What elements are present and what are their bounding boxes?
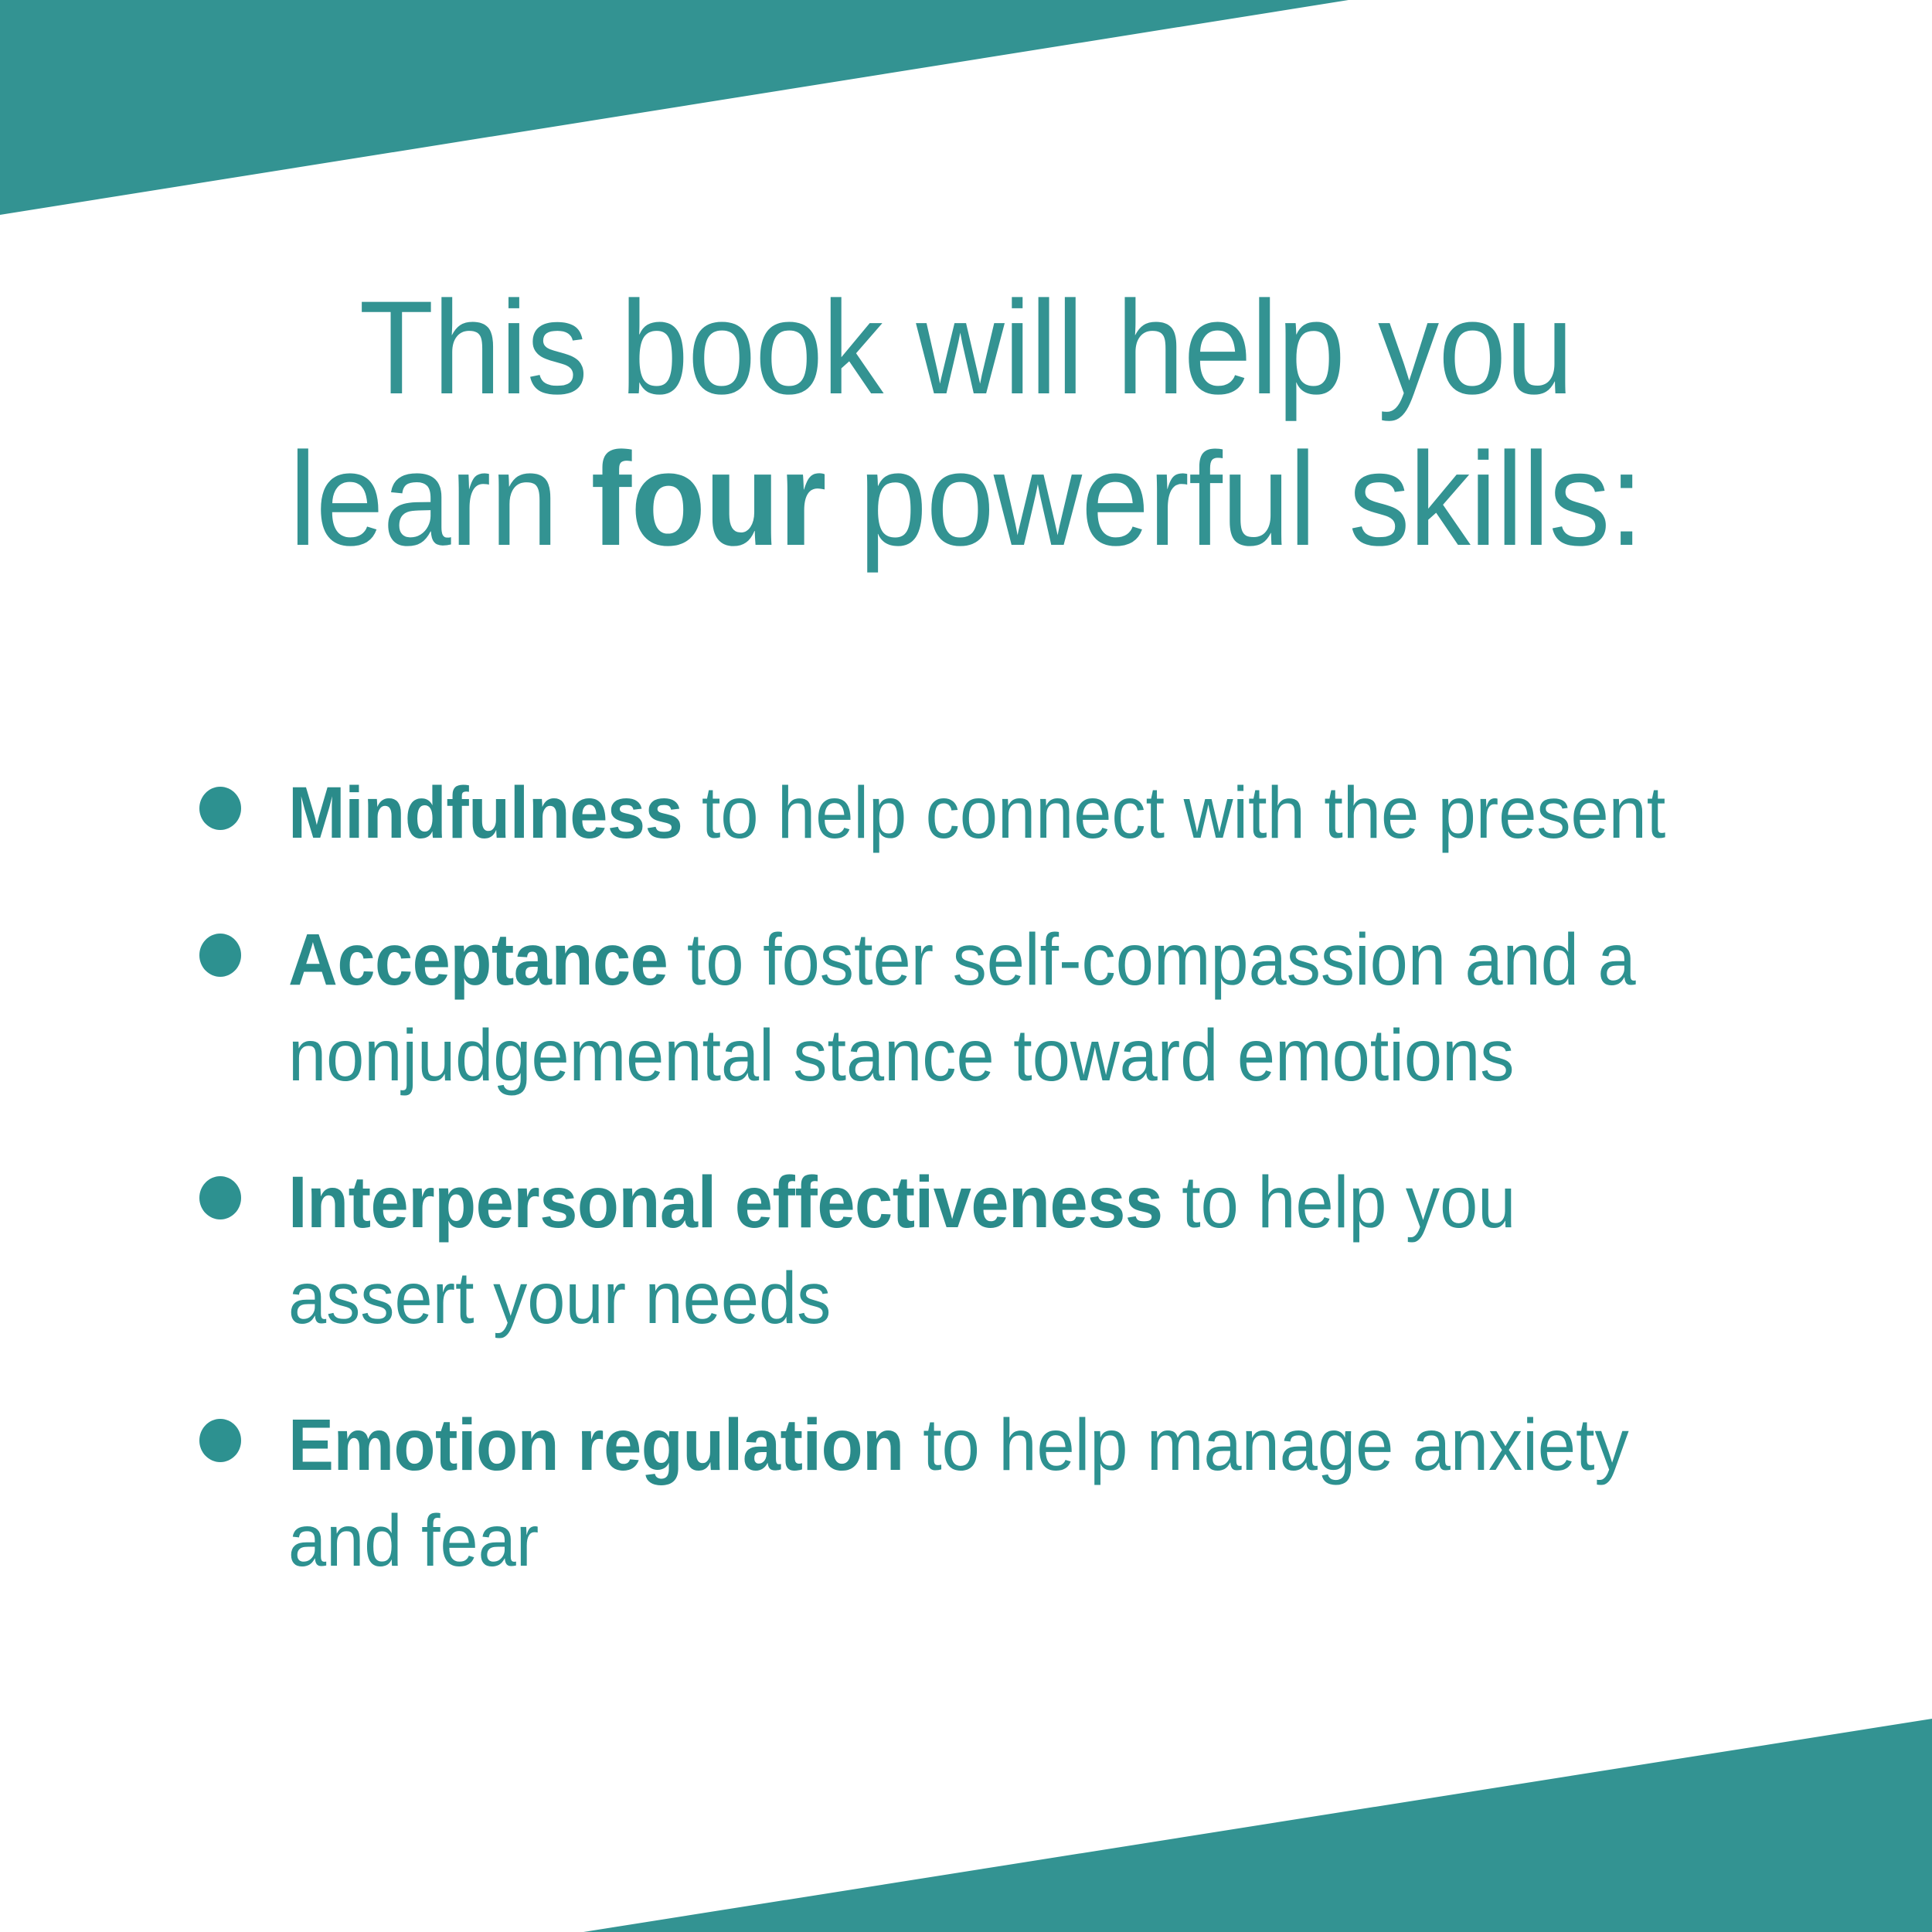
skill-term: Emotion regulation [288, 1404, 904, 1486]
bullet-dot-icon [199, 934, 241, 977]
title-emphasis-four: four [591, 425, 826, 573]
list-item: Mindfulness to help connect with the pre… [199, 765, 1822, 861]
list-item: Acceptance to foster self-compassion and… [199, 912, 1822, 1104]
list-item-text: Emotion regulation to help manage anxiet… [288, 1397, 1715, 1589]
promo-card: This book will help you learn four power… [0, 0, 1932, 1932]
bullet-dot-icon [199, 1419, 241, 1462]
bullet-dot-icon [199, 1176, 241, 1219]
bullet-dot-wrap [199, 1155, 288, 1219]
list-item: Emotion regulation to help manage anxiet… [199, 1397, 1822, 1589]
bullet-dot-wrap [199, 1397, 288, 1462]
bullet-dot-icon [199, 787, 241, 830]
skills-list: Mindfulness to help connect with the pre… [199, 765, 1822, 1640]
top-left-teal-wedge [0, 0, 1349, 215]
list-item: Interpersonal effectiveness to help you … [199, 1155, 1822, 1346]
skill-description: to help connect with the present [682, 772, 1665, 854]
page-title: This book will help you learn four power… [93, 272, 1839, 575]
list-item-text: Interpersonal effectiveness to help you … [288, 1155, 1715, 1346]
list-item-text: Acceptance to foster self-compassion and… [288, 912, 1715, 1104]
bullet-dot-wrap [199, 765, 288, 830]
bullet-dot-wrap [199, 912, 288, 977]
skill-term: Acceptance [288, 919, 668, 1001]
bottom-right-teal-wedge [583, 1719, 1932, 1932]
list-item-text: Mindfulness to help connect with the pre… [288, 765, 1715, 861]
title-line-2-prefix: learn [289, 425, 590, 573]
title-line-2: learn four powerful skills: [162, 423, 1769, 575]
title-line-1: This book will help you [162, 272, 1769, 423]
skill-term: Mindfulness [288, 772, 682, 854]
skill-term: Interpersonal effectiveness [288, 1162, 1163, 1243]
title-line-2-suffix: powerful skills: [826, 425, 1643, 573]
